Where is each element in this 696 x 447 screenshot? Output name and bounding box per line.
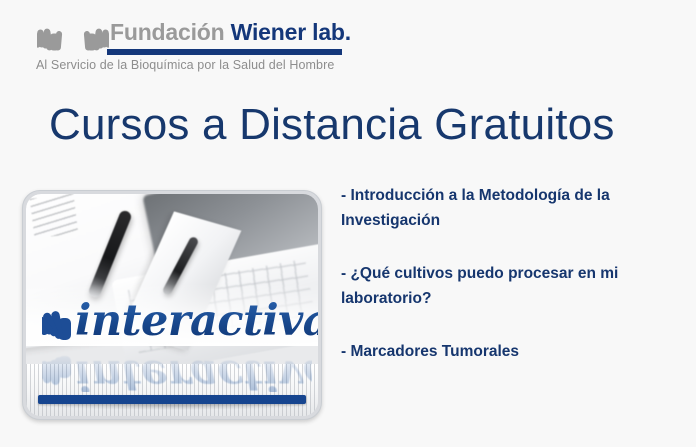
brand-word-fundacion: Fundación	[110, 19, 231, 45]
notebook-rings-icon	[30, 194, 79, 239]
page-title: Cursos a Distancia Gratuitos	[49, 100, 615, 150]
course-item-metodologia[interactable]: - Introducción a la Metodología de la In…	[341, 183, 671, 233]
interactiva-wordmark-mirror: interactiva	[75, 350, 312, 392]
two-hands-icon	[37, 22, 109, 52]
brand-word-wienerlab: Wiener lab.	[231, 19, 351, 45]
brand-wordmark: Fundación Wiener lab.	[110, 19, 351, 46]
accent-bar	[38, 395, 306, 404]
brand-tagline: Al Servicio de la Bioquímica por la Salu…	[36, 58, 334, 72]
course-list: - Introducción a la Metodología de la In…	[341, 183, 671, 364]
card-inner: interactiva interactiva	[26, 194, 318, 416]
course-item-cultivos[interactable]: - ¿Qué cultivos puedo procesar en mi lab…	[341, 261, 671, 311]
brand-header: Fundación Wiener lab. Al Servicio de la …	[34, 16, 354, 80]
course-item-marcadores[interactable]: - Marcadores Tumorales	[341, 339, 671, 364]
interactiva-wordmark-reflection: interactiva	[42, 346, 312, 392]
brand-underline-bar	[107, 49, 342, 55]
interactiva-wordmark: interactiva	[75, 296, 318, 346]
interactiva-promo-card[interactable]: interactiva interactiva	[22, 190, 322, 420]
